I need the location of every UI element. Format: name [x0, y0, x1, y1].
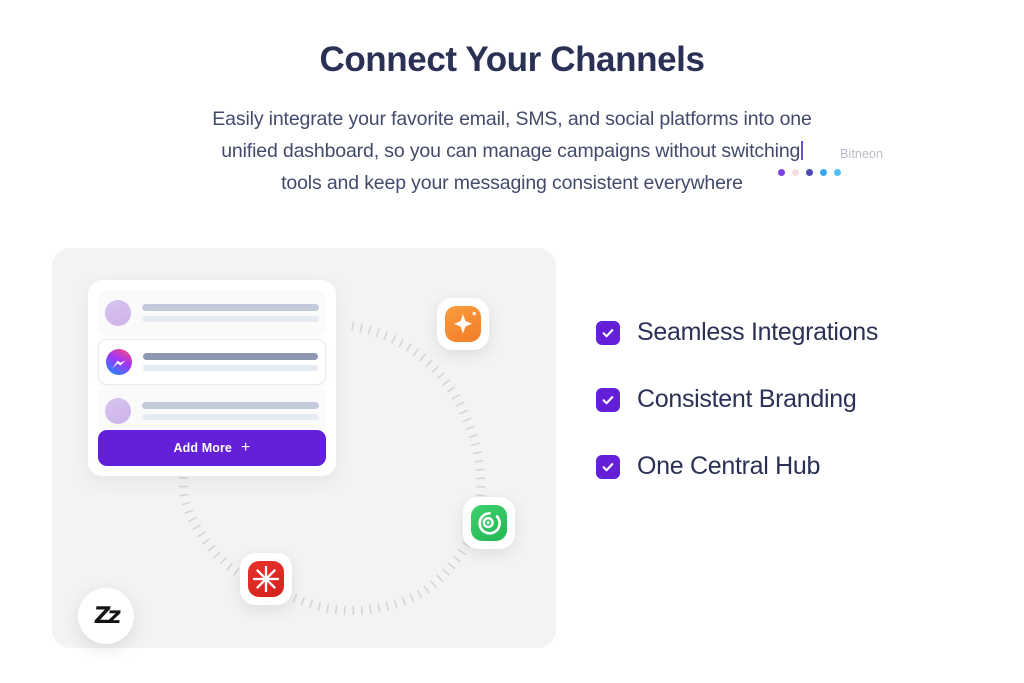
add-more-button[interactable]: Add More + — [98, 430, 326, 466]
brand-dot-1 — [778, 169, 785, 176]
swirl-eye-icon — [471, 505, 507, 541]
checklist-item-label: One Central Hub — [637, 452, 820, 481]
checklist-item[interactable]: One Central Hub — [596, 452, 878, 481]
spark-star-icon — [445, 306, 481, 342]
channel-list-card: Add More + — [88, 280, 336, 476]
brand-dot-5 — [834, 169, 841, 176]
sunburst-icon — [248, 561, 284, 597]
feature-checklist: Seamless Integrations Consistent Brandin… — [596, 318, 878, 519]
row-placeholder-lines — [142, 304, 319, 322]
page-root: Connect Your Channels Easily integrate y… — [0, 0, 1024, 683]
row-placeholder-lines — [143, 353, 318, 371]
avatar-circle-purple-icon — [105, 300, 131, 326]
app-icon-zz-tile[interactable]: Zz — [78, 588, 134, 644]
watermark: Bitneon — [840, 147, 883, 176]
page-title: Connect Your Channels — [0, 42, 1024, 77]
messenger-icon — [106, 349, 132, 375]
row-line-primary — [142, 402, 319, 409]
checklist-item-label: Consistent Branding — [637, 385, 856, 414]
checklist-item[interactable]: Seamless Integrations — [596, 318, 878, 347]
checkbox-checked-icon[interactable] — [596, 321, 620, 345]
checklist-item[interactable]: Consistent Branding — [596, 385, 878, 414]
brand-name: Bitneon — [840, 147, 883, 161]
row-line-secondary — [142, 414, 319, 420]
row-line-secondary — [142, 316, 319, 322]
app-icon-orange-tile[interactable] — [437, 298, 489, 350]
illustration-panel: Add More + — [52, 248, 556, 648]
avatar-circle-purple-icon — [105, 398, 131, 424]
brand-dots — [778, 169, 883, 176]
checklist-item-label: Seamless Integrations — [637, 318, 878, 347]
brand-dot-3 — [806, 169, 813, 176]
brand-dot-4 — [820, 169, 827, 176]
row-line-primary — [143, 353, 318, 360]
page-subtitle: Easily integrate your favorite email, SM… — [132, 103, 892, 199]
add-more-label: Add More — [174, 441, 232, 455]
row-line-primary — [142, 304, 319, 311]
plus-icon: + — [241, 440, 250, 456]
text-caret — [801, 141, 803, 160]
channel-row[interactable] — [98, 388, 326, 434]
brand-dot-2 — [792, 169, 799, 176]
row-placeholder-lines — [142, 402, 319, 420]
subtitle-line-2: unified dashboard, so you can manage cam… — [132, 135, 892, 167]
checkbox-checked-icon[interactable] — [596, 388, 620, 412]
row-line-secondary — [143, 365, 318, 371]
channel-row-selected[interactable] — [98, 339, 326, 385]
app-icon-green-tile[interactable] — [463, 497, 515, 549]
subtitle-line-2-text: unified dashboard, so you can manage cam… — [221, 140, 800, 162]
subtitle-line-1: Easily integrate your favorite email, SM… — [132, 103, 892, 135]
app-icon-red-tile[interactable] — [240, 553, 292, 605]
channel-row[interactable] — [98, 290, 326, 336]
zz-logo-icon: Zz — [93, 605, 119, 628]
checkbox-checked-icon[interactable] — [596, 455, 620, 479]
